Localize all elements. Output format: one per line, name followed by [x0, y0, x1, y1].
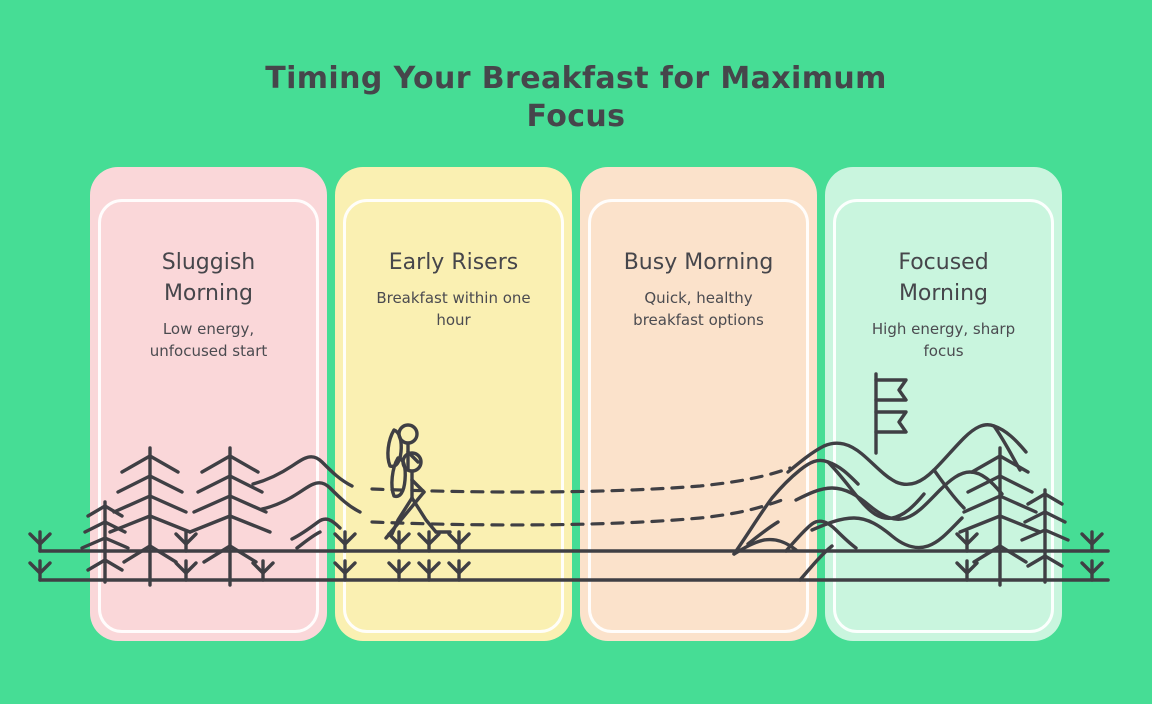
card-text-block: Busy Morning Quick, healthy breakfast op… [594, 247, 803, 331]
page-title: Timing Your Breakfast for Maximum Focus [236, 60, 916, 136]
card-title: Focused Morning [839, 247, 1048, 309]
card-subtitle: Breakfast within one hour [349, 287, 558, 331]
card-text-block: Sluggish Morning Low energy, unfocused s… [104, 247, 313, 362]
card-subtitle: High energy, sharp focus [839, 318, 1048, 362]
card-text-block: Early Risers Breakfast within one hour [349, 247, 558, 331]
card-busy-morning[interactable]: Busy Morning Quick, healthy breakfast op… [580, 167, 817, 641]
card-subtitle: Quick, healthy breakfast options [594, 287, 803, 331]
card-focused-morning[interactable]: Focused Morning High energy, sharp focus [825, 167, 1062, 641]
infographic-canvas: Timing Your Breakfast for Maximum Focus … [0, 0, 1152, 704]
card-sluggish-morning[interactable]: Sluggish Morning Low energy, unfocused s… [90, 167, 327, 641]
card-title: Early Risers [349, 247, 558, 278]
card-title: Sluggish Morning [104, 247, 313, 309]
card-text-block: Focused Morning High energy, sharp focus [839, 247, 1048, 362]
card-title: Busy Morning [594, 247, 803, 278]
card-subtitle: Low energy, unfocused start [104, 318, 313, 362]
card-early-risers[interactable]: Early Risers Breakfast within one hour [335, 167, 572, 641]
